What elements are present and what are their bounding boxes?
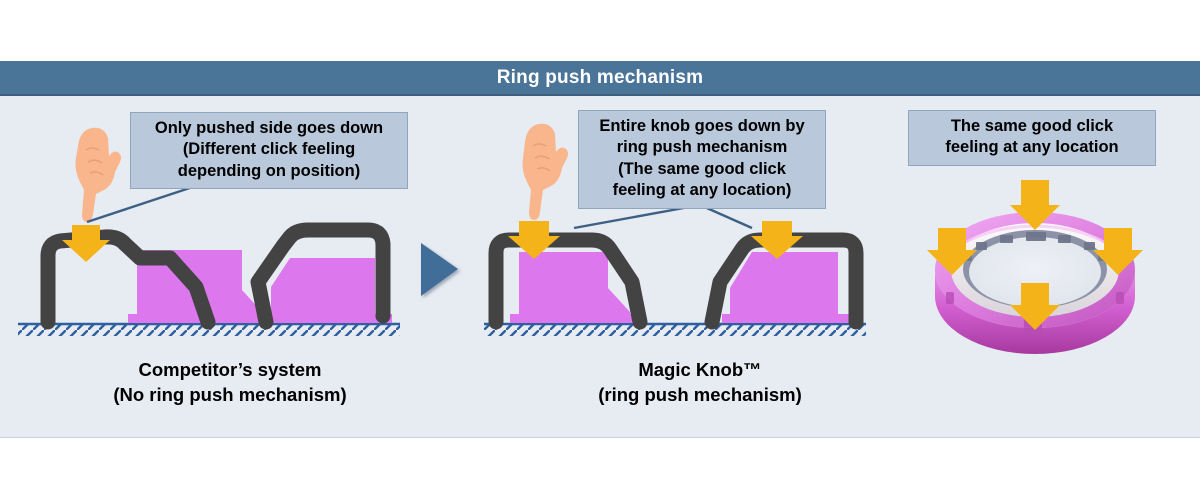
callout-line: ring push mechanism bbox=[588, 137, 816, 158]
page-title: Ring push mechanism bbox=[497, 67, 704, 89]
caption-line: Magic Knob™ bbox=[490, 358, 910, 383]
caption-line: Competitor’s system bbox=[30, 358, 430, 383]
callout-line: (Different click feeling bbox=[140, 139, 398, 160]
callout-line: depending on position) bbox=[140, 161, 398, 182]
callout-line: feeling at any location) bbox=[588, 180, 816, 201]
callout-ring: The same good click feeling at any locat… bbox=[908, 110, 1156, 166]
callout-line: (The same good click bbox=[588, 159, 816, 180]
caption-line: (No ring push mechanism) bbox=[30, 383, 430, 408]
caption-magic-knob: Magic Knob™ (ring push mechanism) bbox=[490, 358, 910, 408]
callout-line: The same good click bbox=[918, 116, 1146, 137]
callout-line: Entire knob goes down by bbox=[588, 116, 816, 137]
title-bar: Ring push mechanism bbox=[0, 61, 1200, 96]
callout-competitor: Only pushed side goes down (Different cl… bbox=[130, 112, 408, 189]
caption-competitor: Competitor’s system (No ring push mechan… bbox=[30, 358, 430, 408]
callout-line: Only pushed side goes down bbox=[140, 118, 398, 139]
caption-line: (ring push mechanism) bbox=[490, 383, 910, 408]
callout-magic-knob: Entire knob goes down by ring push mecha… bbox=[578, 110, 826, 209]
figure-root: Ring push mechanism bbox=[0, 0, 1200, 500]
callout-line: feeling at any location bbox=[918, 137, 1146, 158]
